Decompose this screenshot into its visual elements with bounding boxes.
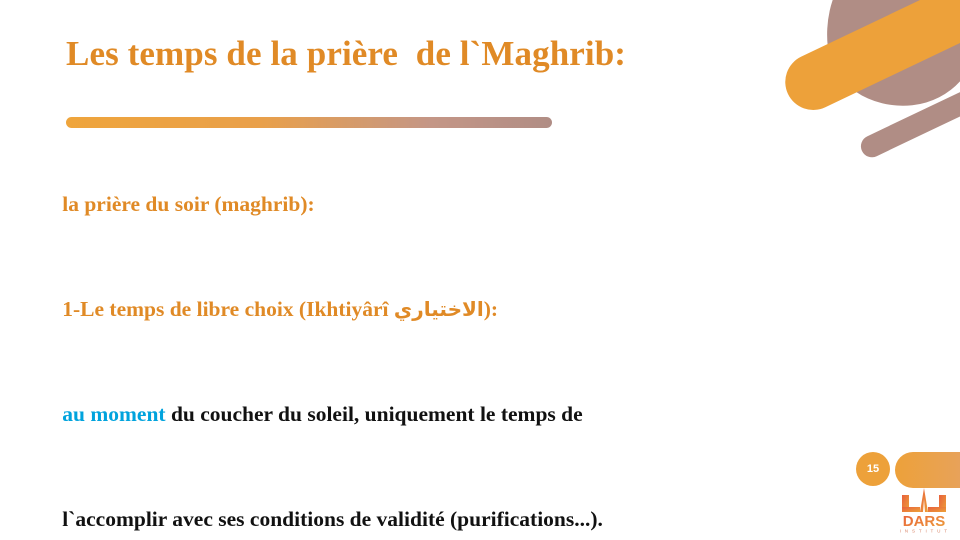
prayer-heading-text: la prière du soir (maghrib): [62, 192, 314, 216]
logo-wordmark: DARS [903, 513, 946, 530]
mauve-diagonal-bar-shape [857, 42, 960, 161]
footer-orange-pill-shape [895, 452, 960, 488]
slide-root: Les temps de la prière de l`Maghrib: la … [0, 0, 960, 540]
body-line-sunset-start: au moment du coucher du soleil, uniqueme… [30, 362, 946, 467]
page-number-badge: 15 [856, 452, 890, 486]
dars-institut-logo: DARS I N S T I T U T [893, 486, 955, 534]
page-number-label: 15 [867, 463, 879, 475]
ikhtiyari-label-suffix: ): [484, 297, 498, 321]
body-line-ikhtiyari-heading: 1-Le temps de libre choix (Ikhtiyârî الا… [30, 257, 946, 362]
conditions-text: l`accomplir avec ses conditions de valid… [62, 507, 603, 531]
body-line-prayer-heading: la prière du soir (maghrib): [30, 152, 946, 257]
slide-title: Les temps de la prière de l`Maghrib: [66, 34, 846, 74]
title-underline-rule [66, 117, 552, 128]
highlight-au-moment: au moment [62, 402, 165, 426]
ikhtiyari-label-prefix: 1-Le temps de libre choix (Ikhtiyârî [62, 297, 394, 321]
slide-body: la prière du soir (maghrib): 1-Le temps … [30, 152, 946, 540]
sunset-start-text: du coucher du soleil, uniquement le temp… [166, 402, 583, 426]
body-line-conditions: l`accomplir avec ses conditions de valid… [30, 467, 946, 540]
logo-subtitle: I N S T I T U T [900, 529, 949, 534]
ikhtiyari-arabic-term: الاختياري [394, 297, 484, 321]
dars-logo-graphic: DARS I N S T I T U T [893, 486, 955, 534]
